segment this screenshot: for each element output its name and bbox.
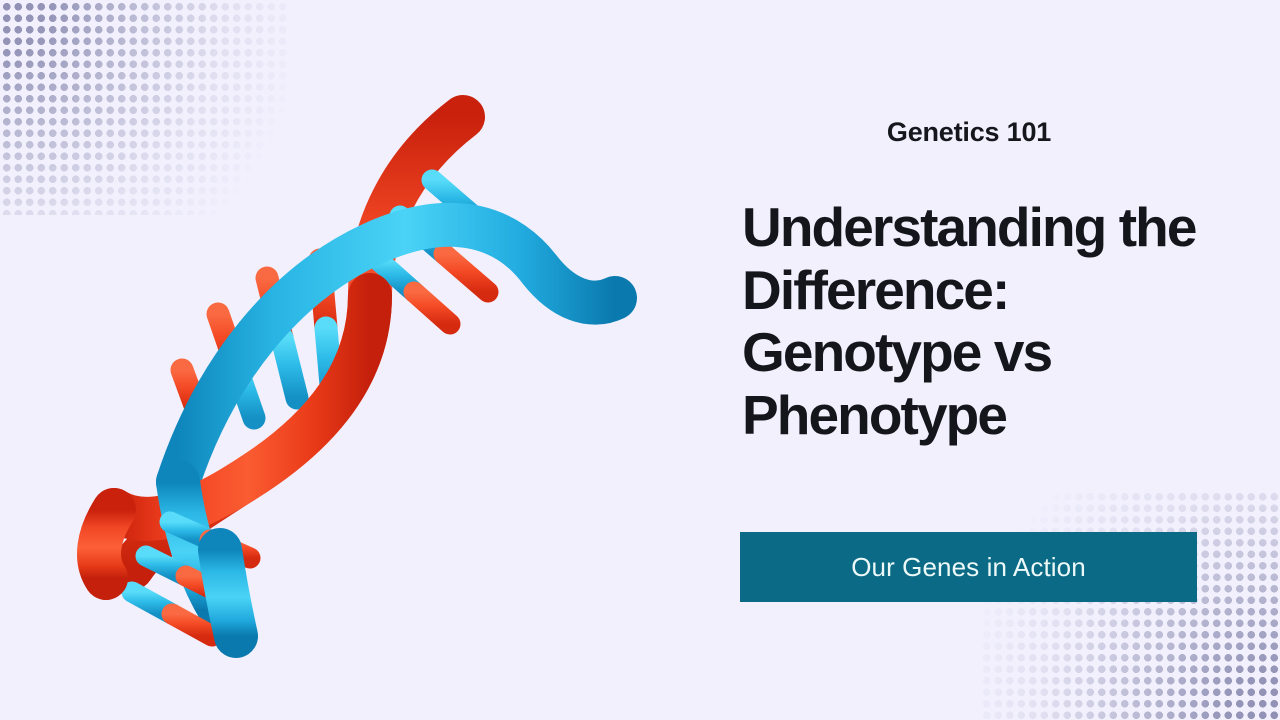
kicker-label: Genetics 101 <box>740 118 1198 148</box>
dna-double-helix-illustration <box>70 70 670 670</box>
cta-banner[interactable]: Our Genes in Action <box>740 532 1197 602</box>
text-content-column: Genetics 101 Understanding the Differenc… <box>740 0 1198 720</box>
slide-canvas: Genetics 101 Understanding the Differenc… <box>0 0 1280 720</box>
page-title: Understanding the Difference: Genotype v… <box>742 196 1212 447</box>
cta-banner-label: Our Genes in Action <box>851 554 1086 580</box>
